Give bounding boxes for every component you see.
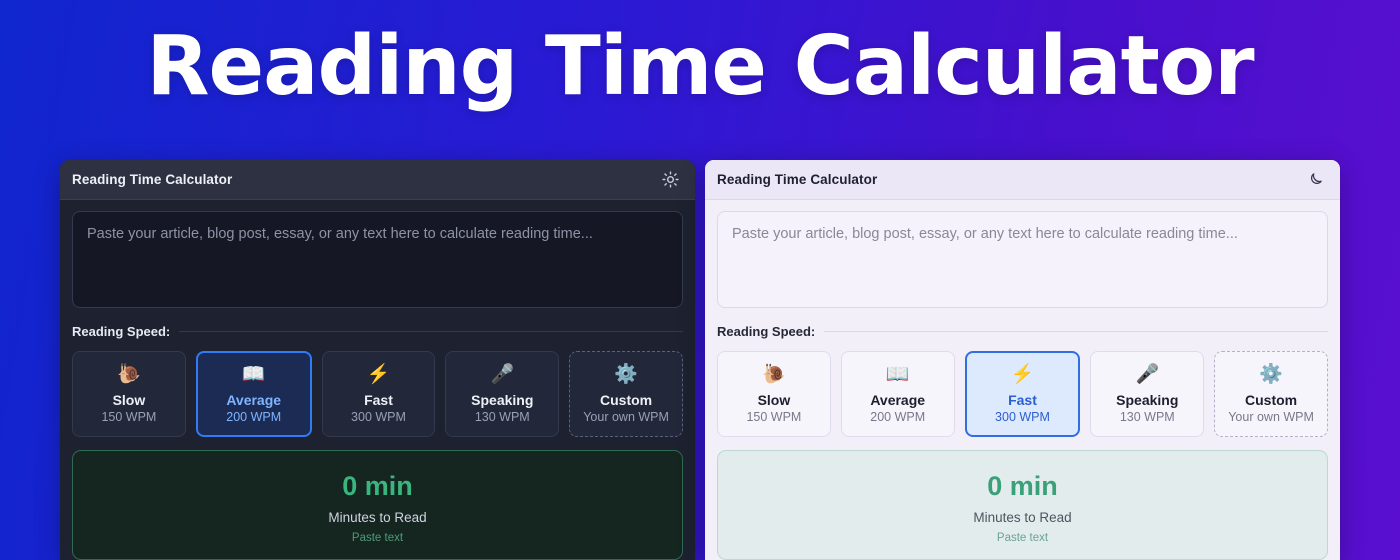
result-card: 0 minMinutes to ReadPaste text — [717, 450, 1328, 560]
speed-option-slow[interactable]: 🐌Slow150 WPM — [72, 351, 186, 437]
snail-icon: 🐌 — [117, 364, 141, 387]
result-hint: Paste text — [352, 532, 403, 544]
moon-icon[interactable] — [1304, 169, 1326, 191]
speed-option-average[interactable]: 📖Average200 WPM — [841, 351, 955, 437]
text-input[interactable]: Paste your article, blog post, essay, or… — [717, 211, 1328, 308]
reading-speed-section-header: Reading Speed: — [72, 324, 683, 339]
reading-speed-options: 🐌Slow150 WPM📖Average200 WPM⚡Fast300 WPM🎤… — [717, 351, 1328, 437]
speed-option-name: Average — [226, 392, 281, 408]
speed-option-name: Fast — [1008, 392, 1037, 408]
speed-option-average[interactable]: 📖Average200 WPM — [196, 351, 312, 437]
speed-option-wpm: 300 WPM — [995, 410, 1050, 424]
result-value: 0 min — [987, 472, 1058, 500]
result-label: Minutes to Read — [973, 510, 1071, 525]
result-value: 0 min — [342, 472, 413, 500]
result-label: Minutes to Read — [328, 510, 426, 525]
gear-icon: ⚙️ — [614, 364, 638, 387]
speed-option-name: Custom — [1245, 392, 1297, 408]
result-card: 0 minMinutes to ReadPaste text — [72, 450, 683, 560]
divider — [824, 331, 1328, 332]
speed-option-wpm: 130 WPM — [475, 410, 530, 424]
panel-header: Reading Time Calculator — [60, 160, 695, 200]
speed-option-slow[interactable]: 🐌Slow150 WPM — [717, 351, 831, 437]
divider — [179, 331, 683, 332]
result-hint: Paste text — [997, 532, 1048, 544]
speed-option-name: Slow — [758, 392, 791, 408]
speed-option-custom[interactable]: ⚙️CustomYour own WPM — [569, 351, 683, 437]
speed-option-wpm: 200 WPM — [226, 410, 281, 424]
speed-option-name: Average — [870, 392, 925, 408]
speed-option-name: Speaking — [471, 392, 533, 408]
page-title: Reading Time Calculator — [0, 26, 1400, 108]
sun-icon[interactable] — [659, 169, 681, 191]
speed-option-name: Fast — [364, 392, 393, 408]
speed-option-name: Slow — [113, 392, 146, 408]
speed-option-fast[interactable]: ⚡Fast300 WPM — [965, 351, 1081, 437]
speed-option-name: Custom — [600, 392, 652, 408]
speed-option-speaking[interactable]: 🎤Speaking130 WPM — [445, 351, 559, 437]
speed-option-wpm: 200 WPM — [870, 410, 925, 424]
snail-icon: 🐌 — [762, 364, 786, 387]
speed-option-speaking[interactable]: 🎤Speaking130 WPM — [1090, 351, 1204, 437]
lightning-bolt-icon: ⚡ — [367, 364, 391, 387]
panel-title: Reading Time Calculator — [72, 172, 232, 187]
open-book-icon: 📖 — [242, 364, 266, 387]
lightning-bolt-icon: ⚡ — [1011, 364, 1035, 387]
reading-speed-label: Reading Speed: — [717, 324, 815, 339]
microphone-icon: 🎤 — [1135, 364, 1159, 387]
reading-speed-options: 🐌Slow150 WPM📖Average200 WPM⚡Fast300 WPM🎤… — [72, 351, 683, 437]
panel-body: Paste your article, blog post, essay, or… — [60, 200, 695, 560]
gear-icon: ⚙️ — [1259, 364, 1283, 387]
panel-title: Reading Time Calculator — [717, 172, 877, 187]
open-book-icon: 📖 — [886, 364, 910, 387]
panel-body: Paste your article, blog post, essay, or… — [705, 200, 1340, 560]
reading-speed-label: Reading Speed: — [72, 324, 170, 339]
panel-comparison-row: Reading Time CalculatorPaste your articl… — [60, 160, 1340, 560]
text-input[interactable]: Paste your article, blog post, essay, or… — [72, 211, 683, 308]
speed-option-custom[interactable]: ⚙️CustomYour own WPM — [1214, 351, 1328, 437]
microphone-icon: 🎤 — [490, 364, 514, 387]
speed-option-wpm: 300 WPM — [351, 410, 406, 424]
panel-header: Reading Time Calculator — [705, 160, 1340, 200]
calculator-panel-light: Reading Time CalculatorPaste your articl… — [705, 160, 1340, 560]
calculator-panel-dark: Reading Time CalculatorPaste your articl… — [60, 160, 695, 560]
speed-option-wpm: Your own WPM — [1228, 410, 1314, 424]
speed-option-wpm: 130 WPM — [1120, 410, 1175, 424]
speed-option-wpm: 150 WPM — [101, 410, 156, 424]
speed-option-wpm: 150 WPM — [746, 410, 801, 424]
hero-banner: Reading Time Calculator — [0, 0, 1400, 108]
speed-option-wpm: Your own WPM — [583, 410, 669, 424]
speed-option-fast[interactable]: ⚡Fast300 WPM — [322, 351, 436, 437]
speed-option-name: Speaking — [1116, 392, 1178, 408]
reading-speed-section-header: Reading Speed: — [717, 324, 1328, 339]
